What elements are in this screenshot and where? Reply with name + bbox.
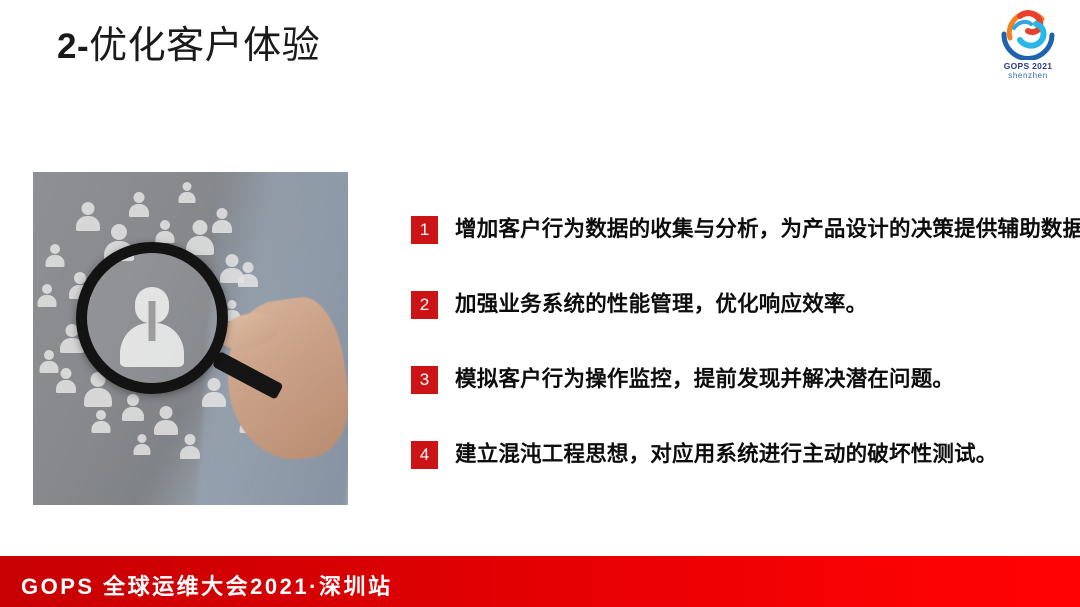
slide: 2-优化客户体验 GOPS 2021 shenzhen [0, 0, 1080, 607]
page-title-number: 2- [57, 27, 89, 66]
list-item: 1 增加客户行为数据的收集与分析，为产品设计的决策提供辅助数据。 [411, 212, 1051, 287]
point-number-badge: 3 [411, 366, 438, 394]
person-icon [75, 202, 101, 232]
conference-logo: GOPS 2021 shenzhen [990, 4, 1066, 86]
point-text: 模拟客户行为操作监控，提前发现并解决潜在问题。 [455, 364, 954, 394]
point-number-badge: 1 [411, 216, 438, 244]
list-item: 4 建立混沌工程思想，对应用系统进行主动的破坏性测试。 [411, 437, 1051, 512]
person-icon [237, 262, 259, 288]
list-item: 3 模拟客户行为操作监控，提前发现并解决潜在问题。 [411, 362, 1051, 437]
person-icon [133, 434, 151, 456]
logo-text-secondary: shenzhen [990, 71, 1066, 81]
person-icon [178, 182, 196, 204]
magnified-person-tie [149, 301, 156, 341]
page-title-label: 优化客户体验 [89, 25, 320, 67]
slide-photo [33, 172, 348, 505]
person-icon [153, 406, 179, 436]
person-icon [185, 220, 215, 256]
person-icon [37, 284, 57, 308]
gops-swirl-icon [998, 4, 1058, 60]
list-item: 2 加强业务系统的性能管理，优化响应效率。 [411, 287, 1051, 362]
person-icon [55, 368, 77, 394]
person-icon [155, 220, 175, 244]
person-icon [128, 192, 150, 218]
point-text: 建立混沌工程思想，对应用系统进行主动的破坏性测试。 [455, 439, 998, 469]
point-text: 增加客户行为数据的收集与分析，为产品设计的决策提供辅助数据。 [455, 214, 1080, 244]
person-icon [45, 244, 65, 268]
person-icon [179, 434, 201, 460]
page-title: 2-优化客户体验 [57, 22, 320, 71]
person-icon [121, 394, 145, 422]
point-text: 加强业务系统的性能管理，优化响应效率。 [455, 289, 867, 319]
person-icon [91, 410, 111, 434]
magnifier-lens [76, 242, 228, 394]
point-number-badge: 2 [411, 291, 438, 319]
footer-bar: GOPS 全球运维大会2021·深圳站 [0, 556, 1080, 607]
person-icon [201, 378, 227, 408]
footer-text: GOPS 全球运维大会2021·深圳站 [21, 569, 392, 601]
point-number-badge: 4 [411, 441, 438, 469]
logo-text-primary: GOPS 2021 [990, 61, 1066, 71]
points-list: 1 增加客户行为数据的收集与分析，为产品设计的决策提供辅助数据。 2 加强业务系… [411, 212, 1051, 512]
